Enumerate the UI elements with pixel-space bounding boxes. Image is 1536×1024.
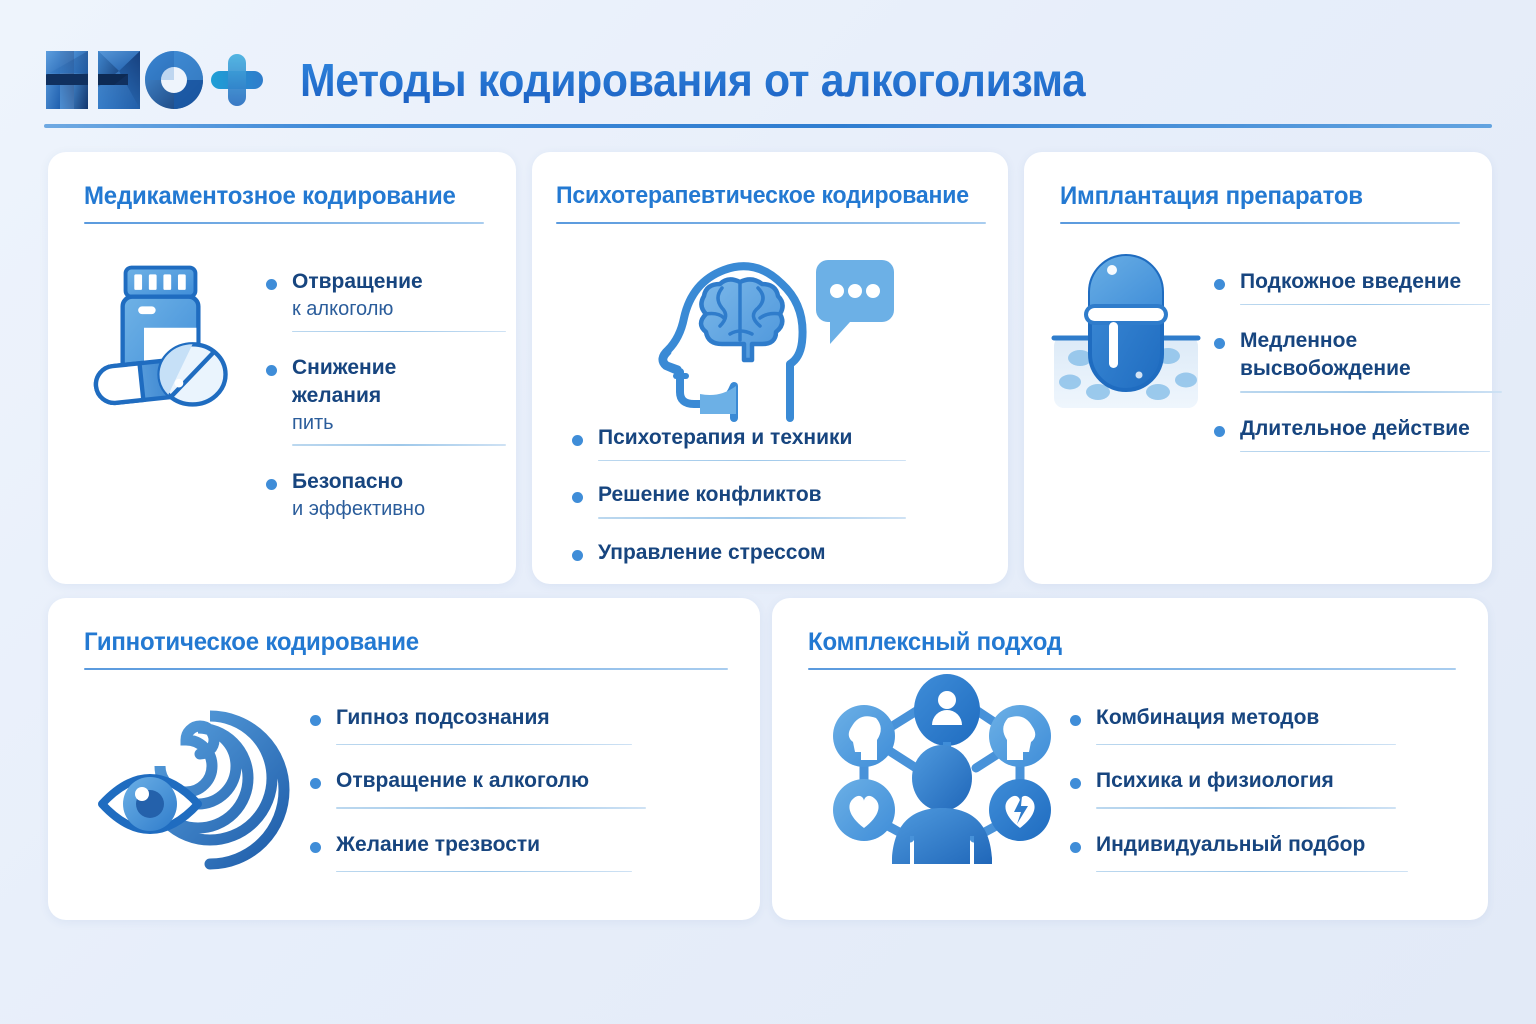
card-title-implantaciya: Имплантация препаратов [1060, 182, 1363, 211]
header-divider [44, 124, 1492, 128]
bullet-strong: Комбинация методов [1096, 704, 1382, 732]
bullet-strong: Психика и физиология [1096, 767, 1382, 795]
bullet-underline [336, 807, 646, 809]
card-title-kompleksnyy: Комплексный подход [808, 628, 1062, 657]
list-item[interactable]: Психика и физиология [1070, 767, 1382, 808]
list-item[interactable]: Управление стрессом [572, 539, 902, 567]
bullet-underline [1096, 871, 1408, 873]
bullet-dot-icon [1214, 279, 1225, 290]
bullet-dot-icon [1070, 778, 1081, 789]
bullet-strong: Гипноз подсознания [336, 704, 620, 732]
bullet-strong: Безопасно [292, 468, 490, 496]
bullet-strong: Желание трезвости [336, 831, 620, 859]
capsule-implant-icon [1046, 250, 1206, 415]
bullet-dot-icon [1070, 715, 1081, 726]
list-item[interactable]: Желание трезвости [310, 831, 620, 872]
bullet-underline [336, 744, 632, 746]
list-item[interactable]: Гипноз подсознания [310, 704, 620, 745]
bullet-underline [1240, 391, 1502, 393]
bullet-dot-icon [1214, 426, 1225, 437]
list-item[interactable]: Медленное высвобождение [1214, 327, 1476, 392]
page-header: Методы кодирования от алкоголизма [44, 28, 1492, 132]
bullet-strong-cont: высвобождение [1240, 355, 1476, 383]
hypnosis-eye-spiral-icon [96, 686, 276, 836]
bullet-dot-icon [572, 550, 583, 561]
pill-bottle-icon [78, 254, 243, 419]
list-item[interactable]: Отвращение к алкоголю [266, 268, 490, 332]
bullet-underline [1240, 304, 1490, 306]
bullet-light: и эффективно [292, 496, 490, 523]
list-item[interactable]: Индивидуальный подбор [1070, 831, 1382, 872]
card-title-medikamentoznoe: Медикаментозное кодирование [84, 182, 456, 211]
bullet-underline [598, 517, 906, 519]
bullet-dot-icon [266, 479, 277, 490]
bullet-underline [1096, 744, 1396, 746]
bullet-list-kompleksnyy: Комбинация методов Психика и физиология … [1070, 704, 1382, 872]
list-item[interactable]: Комбинация методов [1070, 704, 1382, 745]
card-gipnoticheskoe[interactable]: Гипнотическое кодирование [48, 598, 760, 920]
bullet-strong: Подкожное введение [1240, 268, 1476, 296]
list-item[interactable]: Длительное действие [1214, 415, 1476, 452]
card-psihoterapevticheskoe[interactable]: Психотерапевтическое кодирование [532, 152, 1008, 584]
infographic-page: Методы кодирования от алкоголизма Медика… [0, 0, 1536, 1024]
heo-plus-logo [44, 47, 266, 113]
bullet-strong: Психотерапия и техники [598, 424, 902, 452]
bullet-underline [292, 444, 506, 446]
bullet-dot-icon [266, 279, 277, 290]
list-item[interactable]: Снижение желания пить [266, 354, 490, 446]
card-divider [84, 222, 484, 224]
bullet-strong: Медленное [1240, 327, 1476, 355]
bullet-list-psihoterapevticheskoe: Психотерапия и техники Решение конфликто… [572, 424, 902, 567]
bullet-list-gipnoticheskoe: Гипноз подсознания Отвращение к алкоголю… [310, 704, 620, 872]
card-title-gipnoticheskoe: Гипнотическое кодирование [84, 628, 419, 657]
bullet-strong: Отвращение [292, 268, 490, 296]
list-item[interactable]: Психотерапия и техники [572, 424, 902, 461]
bullet-dot-icon [1070, 842, 1081, 853]
card-kompleksnyy[interactable]: Комплексный подход [772, 598, 1488, 920]
card-title-psihoterapevticheskoe: Психотерапевтическое кодирование [556, 182, 969, 210]
bullet-list-medikamentoznoe: Отвращение к алкоголю Снижение желания п… [266, 268, 490, 522]
bullet-strong: Индивидуальный подбор [1096, 831, 1382, 859]
bullet-underline [292, 331, 506, 333]
card-divider [556, 222, 986, 224]
bullet-list-implantaciya: Подкожное введение Медленное высвобожден… [1214, 268, 1476, 452]
bullet-strong: Решение конфликтов [598, 481, 902, 509]
bullet-underline [1240, 451, 1490, 453]
list-item[interactable]: Отвращение к алкоголю [310, 767, 620, 808]
bullet-strong: Длительное действие [1240, 415, 1476, 443]
list-item[interactable]: Решение конфликтов [572, 481, 902, 518]
bullet-dot-icon [310, 778, 321, 789]
bullet-underline [336, 871, 632, 873]
list-item[interactable]: Безопасно и эффективно [266, 468, 490, 523]
bullet-dot-icon [310, 715, 321, 726]
bullet-strong: Отвращение к алкоголю [336, 767, 620, 795]
bullet-strong: Снижение желания [292, 354, 490, 410]
bullet-light: к алкоголю [292, 296, 490, 323]
bullet-strong: Управление стрессом [598, 539, 902, 567]
bullet-dot-icon [572, 492, 583, 503]
list-item[interactable]: Подкожное введение [1214, 268, 1476, 305]
bullet-underline [598, 460, 906, 462]
page-title: Методы кодирования от алкоголизма [300, 57, 1085, 103]
bullet-underline [1096, 807, 1396, 809]
bullet-dot-icon [572, 435, 583, 446]
bullet-dot-icon [1214, 338, 1225, 349]
bullet-dot-icon [310, 842, 321, 853]
bullet-light: пить [292, 410, 490, 437]
card-implantaciya[interactable]: Имплантация препаратов [1024, 152, 1492, 584]
head-brain-speech-icon [650, 246, 900, 426]
person-network-icon [824, 670, 1040, 870]
card-divider [84, 668, 728, 670]
card-divider [1060, 222, 1460, 224]
bullet-dot-icon [266, 365, 277, 376]
card-medikamentoznoe[interactable]: Медикаментозное кодирование [48, 152, 516, 584]
